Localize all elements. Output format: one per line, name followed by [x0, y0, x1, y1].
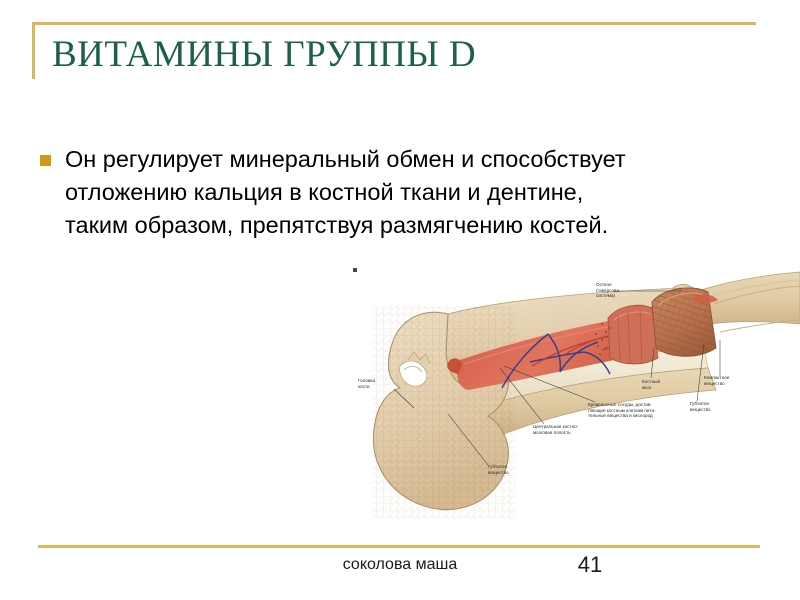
figure-label-spongy-substance-left: Губчатое вещество — [488, 464, 509, 475]
title-rule-left — [32, 22, 35, 79]
bone-cross-section-figure: Остеон (гаверсова система) Головка кости… — [352, 262, 800, 520]
bullet-list: Он регулирует минеральный обмен и способ… — [40, 143, 640, 242]
slide-page-number: 41 — [560, 552, 620, 578]
page-title: ВИТАМИНЫ ГРУППЫ D — [52, 33, 752, 77]
footer-rule — [38, 545, 760, 548]
bullet-item-text: Он регулирует минеральный обмен и способ… — [65, 143, 630, 242]
figure-label-blood-vessels: Кровеносные сосуды, достав- ляющие костн… — [588, 402, 656, 419]
figure-label-bone-head: Головка кости — [358, 378, 375, 389]
figure-anchor-marker — [353, 268, 357, 272]
figure-label-central-marrow-cavity: Центральная костно- мозговая полость — [533, 424, 578, 435]
figure-label-bone-marrow: Костный мозг — [642, 379, 660, 390]
footer-author: соколова маша — [0, 556, 800, 574]
figure-label-osteon: Остеон (гаверсова система) — [596, 282, 619, 299]
square-bullet-icon — [40, 155, 51, 166]
figure-label-compact-substance: Компактное вещество — [704, 375, 729, 386]
figure-label-spongy-substance-right: Губчатое вещество — [690, 401, 711, 412]
presentation-slide: ВИТАМИНЫ ГРУППЫ D Он регулирует минераль… — [0, 0, 800, 600]
title-rule-top — [32, 22, 756, 25]
